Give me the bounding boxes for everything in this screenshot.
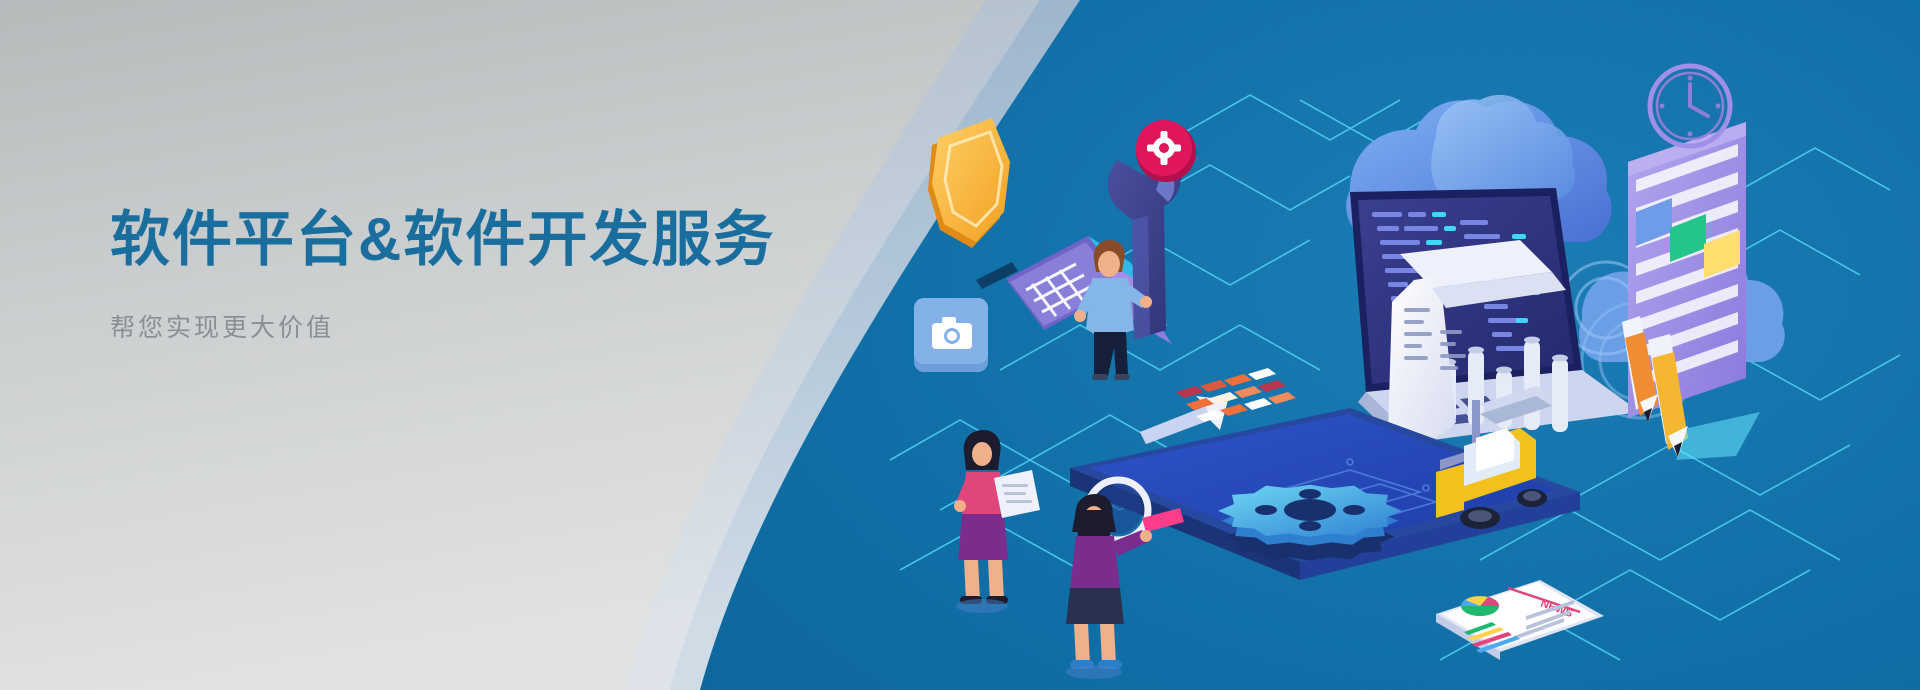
gear-badge-icon	[1136, 120, 1196, 182]
shield-icon	[928, 118, 1010, 248]
arrow-icon	[1140, 396, 1228, 444]
hero-banner: 软件平台&软件开发服务 帮您实现更大价值	[0, 0, 1920, 690]
hero-illustration: NEWS	[880, 40, 1920, 690]
clock-icon	[1650, 66, 1730, 146]
stacked-gear-icon	[1218, 485, 1402, 561]
camera-icon	[914, 298, 988, 372]
illustration-canvas: NEWS	[880, 40, 1920, 690]
hero-text-block: 软件平台&软件开发服务 帮您实现更大价值	[110, 205, 775, 344]
news-pie-chart	[1461, 596, 1499, 616]
page-title: 软件平台&软件开发服务	[110, 205, 775, 274]
page-subtitle: 帮您实现更大价值	[110, 308, 775, 344]
